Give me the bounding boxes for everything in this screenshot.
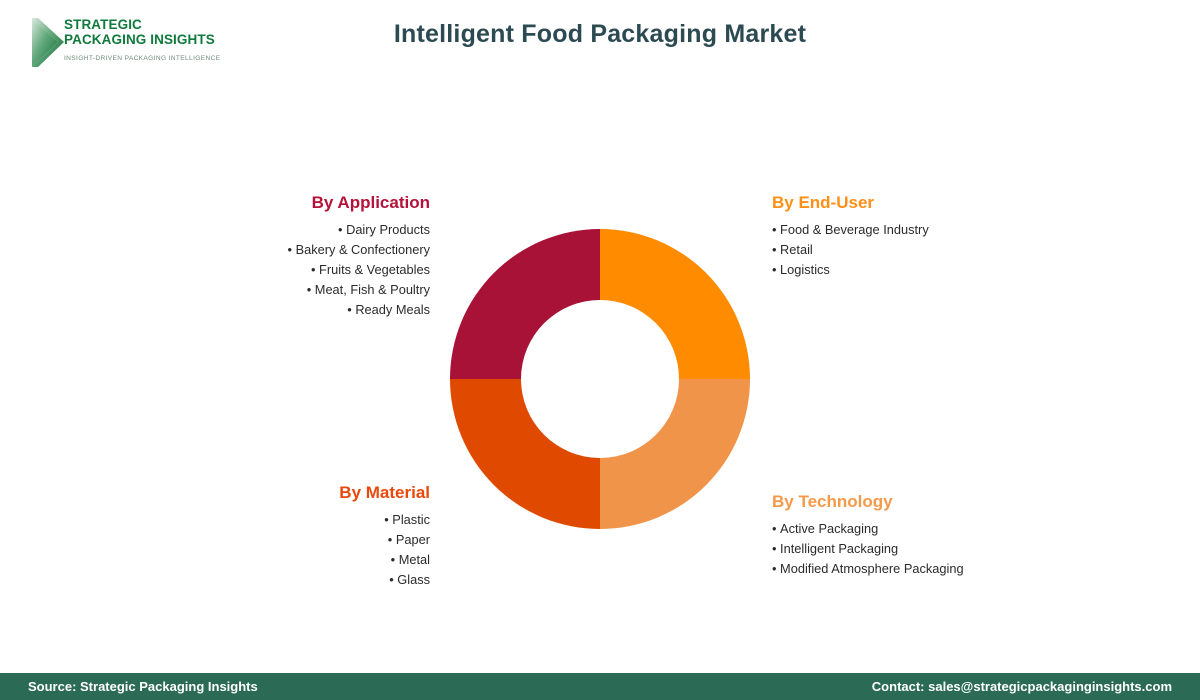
list-item: Retail [772, 240, 1072, 260]
segment-application-title: By Application [230, 193, 430, 213]
list-item: Dairy Products [230, 220, 430, 240]
list-item: Active Packaging [772, 519, 1092, 539]
donut-center-hole [521, 300, 679, 458]
list-item: Ready Meals [230, 300, 430, 320]
segment-end-user-title: By End-User [772, 193, 1072, 213]
segment-application-list: Dairy Products Bakery & Confectionery Fr… [230, 220, 430, 320]
donut-chart [450, 229, 750, 529]
segment-technology-list: Active Packaging Intelligent Packaging M… [772, 519, 1092, 579]
segment-material-title: By Material [230, 483, 430, 503]
list-item: Fruits & Vegetables [230, 260, 430, 280]
page-title: Intelligent Food Packaging Market [0, 20, 1200, 49]
list-item: Meat, Fish & Poultry [230, 280, 430, 300]
footer-bar: Source: Strategic Packaging Insights Con… [0, 673, 1200, 700]
footer-contact[interactable]: Contact: sales@strategicpackaginginsight… [872, 679, 1172, 694]
list-item: Glass [230, 570, 430, 590]
list-item: Plastic [230, 510, 430, 530]
segment-end-user: By End-User Food & Beverage Industry Ret… [772, 193, 1072, 280]
footer-source: Source: Strategic Packaging Insights [28, 679, 258, 694]
segment-technology-title: By Technology [772, 492, 1092, 512]
list-item: Modified Atmosphere Packaging [772, 559, 1092, 579]
segment-end-user-list: Food & Beverage Industry Retail Logistic… [772, 220, 1072, 280]
list-item: Bakery & Confectionery [230, 240, 430, 260]
list-item: Metal [230, 550, 430, 570]
list-item: Food & Beverage Industry [772, 220, 1072, 240]
logo-tagline: INSIGHT-DRIVEN PACKAGING INTELLIGENCE [64, 55, 220, 62]
list-item: Paper [230, 530, 430, 550]
list-item: Intelligent Packaging [772, 539, 1092, 559]
list-item: Logistics [772, 260, 1072, 280]
segment-technology: By Technology Active Packaging Intellige… [772, 492, 1092, 579]
segment-material-list: Plastic Paper Metal Glass [230, 510, 430, 590]
segment-application: By Application Dairy Products Bakery & C… [230, 193, 430, 320]
segment-material: By Material Plastic Paper Metal Glass [230, 483, 430, 590]
